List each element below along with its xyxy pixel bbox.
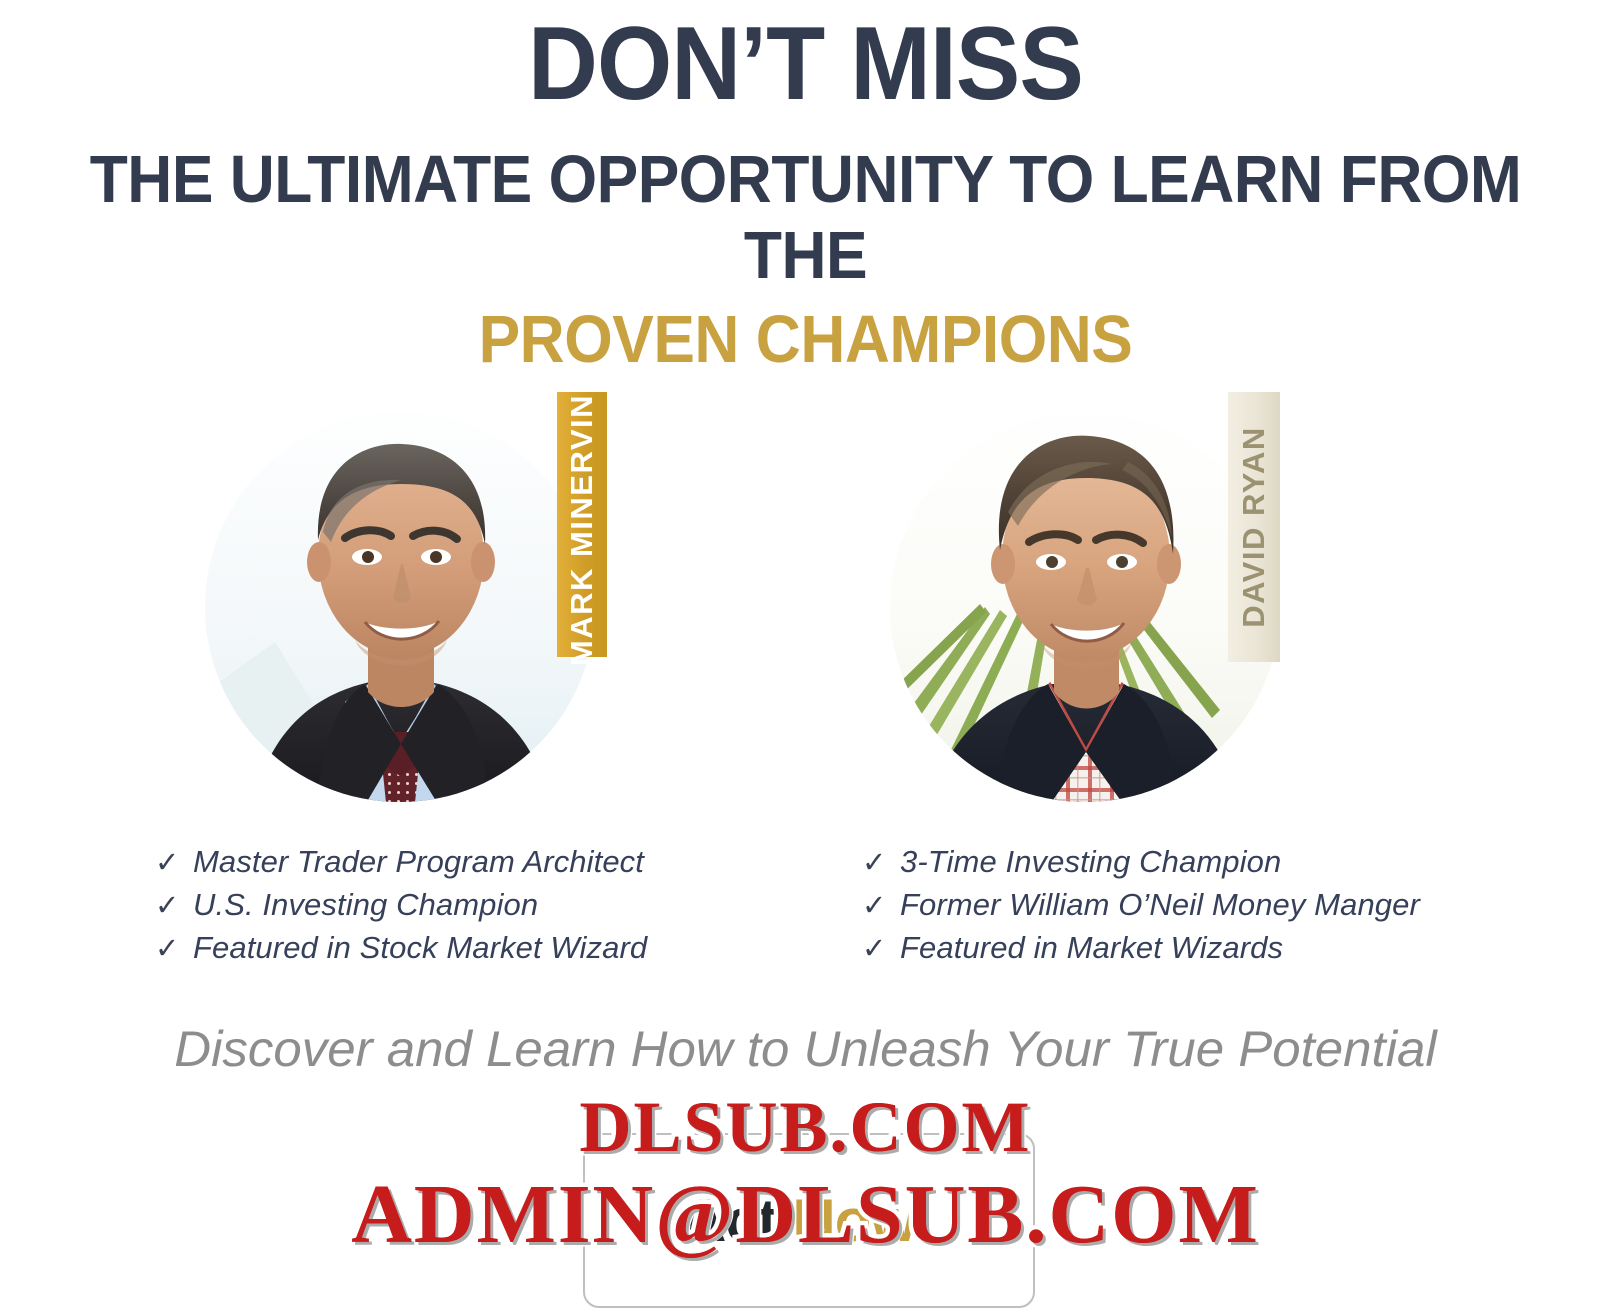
check-icon: ✓	[862, 849, 900, 878]
credential-label: Featured in Market Wizards	[900, 926, 1283, 969]
list-item: ✓ U.S. Investing Champion	[155, 883, 647, 926]
check-icon: ✓	[862, 935, 900, 964]
credentials-list-david-ryan: ✓ 3-Time Investing Champion ✓ Former Wil…	[862, 840, 1420, 969]
check-icon: ✓	[155, 892, 193, 921]
check-icon: ✓	[155, 849, 193, 878]
list-item: ✓ Former William O’Neil Money Manger	[862, 883, 1420, 926]
portrait-david-ryan	[890, 392, 1280, 822]
credential-label: U.S. Investing Champion	[193, 883, 538, 926]
portrait-photo-david-ryan	[890, 392, 1280, 822]
speaker-name-banner-mark-minervini: MARK MINERVINI	[557, 392, 607, 657]
credentials-list-mark-minervini: ✓ Master Trader Program Architect ✓ U.S.…	[155, 840, 647, 969]
credential-label: Featured in Stock Market Wizard	[193, 926, 647, 969]
check-icon: ✓	[862, 892, 900, 921]
credential-label: 3-Time Investing Champion	[900, 840, 1281, 883]
watermark-email-text: ADMIN@DLSUB.COM	[351, 1168, 1259, 1261]
speaker-card-mark-minervini: MARK MINERVINI	[175, 378, 645, 828]
credential-label: Master Trader Program Architect	[193, 840, 644, 883]
tagline: Discover and Learn How to Unleash Your T…	[0, 1020, 1611, 1078]
list-item: ✓ Master Trader Program Architect	[155, 840, 647, 883]
speaker-credentials: ✓ Master Trader Program Architect ✓ U.S.…	[0, 840, 1611, 980]
speakers-row: MARK MINERVINI	[0, 378, 1611, 828]
speaker-name-label: MARK MINERVINI	[564, 383, 600, 665]
headline-line-2: THE ULTIMATE OPPORTUNITY TO LEARN FROM T…	[56, 142, 1554, 294]
speaker-card-david-ryan: DAVID RYAN	[860, 378, 1330, 828]
credential-label: Former William O’Neil Money Manger	[900, 883, 1420, 926]
headline-line-1: DON’T MISS	[56, 8, 1554, 120]
list-item: ✓ 3-Time Investing Champion	[862, 840, 1420, 883]
watermark-email: ADMIN@DLSUB.COM ADMIN@DLSUB.COM	[0, 1166, 1611, 1263]
speaker-name-label: DAVID RYAN	[1236, 426, 1272, 628]
speaker-name-banner-david-ryan: DAVID RYAN	[1228, 392, 1280, 662]
list-item: ✓ Featured in Stock Market Wizard	[155, 926, 647, 969]
watermark-site: DLSUB.COM DLSUB.COM	[0, 1086, 1611, 1169]
check-icon: ✓	[155, 935, 193, 964]
watermark-site-text: DLSUB.COM	[579, 1087, 1031, 1167]
list-item: ✓ Featured in Market Wizards	[862, 926, 1420, 969]
portrait-photo-mark-minervini	[205, 392, 595, 822]
headline-line-3: PROVEN CHAMPIONS	[56, 302, 1554, 378]
portrait-mark-minervini	[205, 392, 595, 822]
headline-block: DON’T MISS THE ULTIMATE OPPORTUNITY TO L…	[0, 0, 1611, 378]
